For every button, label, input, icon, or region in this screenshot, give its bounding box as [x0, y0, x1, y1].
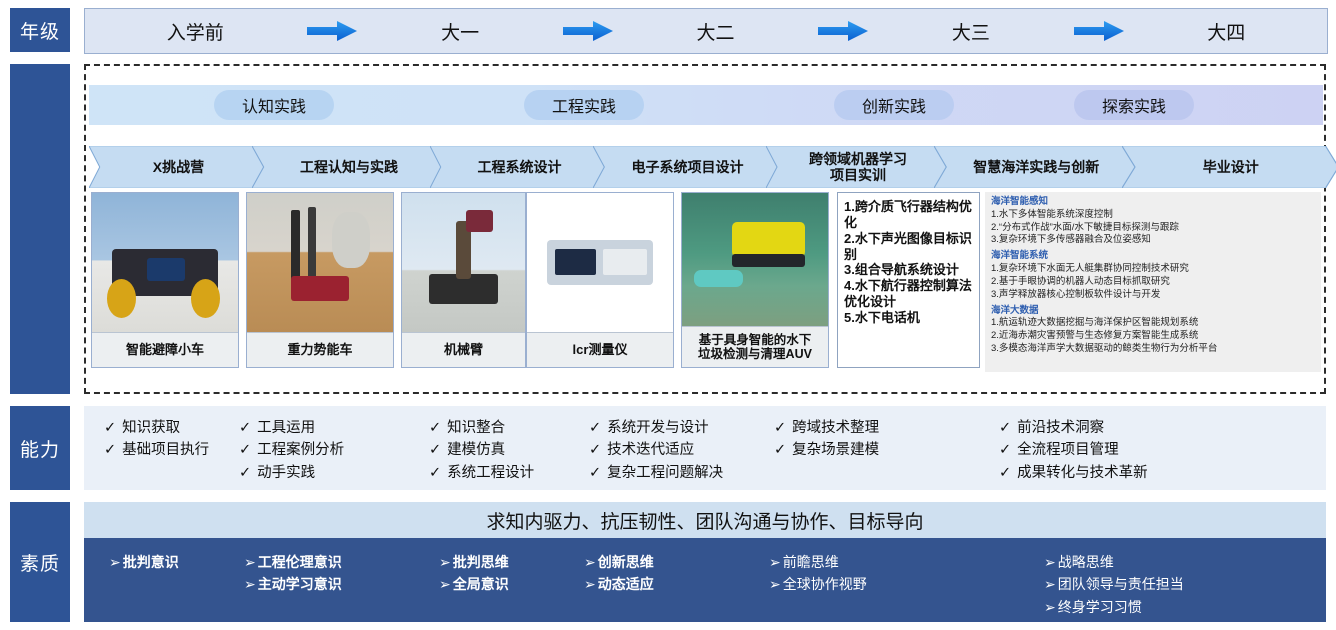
poster-root: 年级 入学前 大一 大二 大三 大四 认知实践 工程实践	[0, 0, 1336, 630]
quality-headline: 求知内驱力、抗压韧性、团队沟通与协作、目标导向	[84, 502, 1326, 538]
check-icon: ✓	[589, 420, 601, 436]
quality-item: ➢战略思维	[1044, 551, 1184, 573]
ability-column-1: ✓工具运用✓工程案例分析✓动手实践	[239, 417, 344, 484]
ability-item: ✓前沿技术洞察	[999, 417, 1148, 439]
check-icon: ✓	[239, 420, 251, 436]
grade-item-0: 入学前	[167, 18, 224, 45]
grade-item-2: 大二	[696, 18, 734, 45]
row-label-grade: 年级	[10, 8, 70, 52]
practice-stage-banner: 认知实践 工程实践 创新实践 探索实践	[89, 85, 1323, 125]
ability-panel: ✓知识获取✓基础项目执行✓工具运用✓工程案例分析✓动手实践✓知识整合✓建模仿真✓…	[84, 406, 1326, 490]
check-icon: ✓	[999, 465, 1011, 481]
arrow-bullet-icon: ➢	[439, 576, 451, 592]
quality-item: ➢全局意识	[439, 573, 509, 595]
quality-item: ➢工程伦理意识	[244, 551, 342, 573]
stage-pill-1: 工程实践	[524, 90, 644, 120]
arrow-bullet-icon: ➢	[584, 554, 596, 570]
course-chevron-label: 毕业设计	[1197, 159, 1265, 175]
research-item: 2.基于手眼协调的机器人动态目标抓取研究	[991, 276, 1316, 289]
quality-item: ➢批判意识	[109, 551, 179, 573]
arrow-bullet-icon: ➢	[1044, 576, 1056, 592]
check-icon: ✓	[429, 442, 441, 458]
right-arrow-icon	[816, 19, 870, 43]
check-icon: ✓	[589, 442, 601, 458]
arrow-bullet-icon: ➢	[1044, 554, 1056, 570]
research-item: 2.近海赤潮灾害预警与生态修复方案智能生成系统	[991, 330, 1316, 343]
grade-item-1: 大一	[441, 18, 479, 45]
ability-item: ✓系统开发与设计	[589, 417, 723, 439]
ability-item: ✓基础项目执行	[104, 439, 209, 461]
course-chevron-3[interactable]: 电子系统项目设计	[593, 146, 782, 188]
project-card-caption: 基于具身智能的水下垃圾检测与清理AUV	[682, 326, 828, 367]
row-label-practice	[10, 64, 70, 394]
quality-column-2: ➢批判思维➢全局意识	[439, 551, 509, 596]
project-card-caption: 重力势能车	[247, 332, 393, 367]
course-chevron-1[interactable]: 工程认知与实践	[252, 146, 446, 188]
course-chevron-2[interactable]: 工程系统设计	[430, 146, 609, 188]
quality-item: ➢全球协作视野	[769, 573, 867, 595]
project-card-row: 智能避障小车重力势能车机械臂lcr测量仪基于具身智能的水下垃圾检测与清理AUV1…	[89, 192, 1323, 372]
ability-column-3: ✓系统开发与设计✓技术迭代适应✓复杂工程问题解决	[589, 417, 723, 484]
ability-item: ✓技术迭代适应	[589, 439, 723, 461]
ability-column-4: ✓跨域技术整理✓复杂场景建模	[774, 417, 879, 462]
course-chevron-label: 电子系统项目设计	[626, 159, 750, 175]
course-chevron-label: 跨领域机器学习项目实训	[803, 151, 913, 183]
check-icon: ✓	[104, 420, 116, 436]
arrow-bullet-icon: ➢	[769, 554, 781, 570]
practice-panel: 认知实践 工程实践 创新实践 探索实践 X挑战营工程认知与实践工程系统设计电子系…	[84, 64, 1326, 394]
quality-column-5: ➢战略思维➢团队领导与责任担当➢终身学习习惯	[1044, 551, 1184, 618]
course-chevron-label: X挑战营	[147, 159, 210, 175]
ability-column-5: ✓前沿技术洞察✓全流程项目管理✓成果转化与技术革新	[999, 417, 1148, 484]
quality-item: ➢动态适应	[584, 573, 654, 595]
project-card[interactable]: lcr测量仪	[526, 192, 674, 368]
ability-item: ✓系统工程设计	[429, 462, 534, 484]
row-label-quality: 素质	[10, 502, 70, 622]
project-card-caption: 机械臂	[402, 332, 525, 367]
arrow-bullet-icon: ➢	[1044, 599, 1056, 615]
course-chevron-0[interactable]: X挑战营	[89, 146, 268, 188]
research-group-heading: 海洋智能系统	[991, 250, 1316, 263]
course-chevron-row: X挑战营工程认知与实践工程系统设计电子系统项目设计跨领域机器学习项目实训智慧海洋…	[89, 146, 1323, 188]
quality-item: ➢前瞻思维	[769, 551, 867, 573]
topic-list-item: 2.水下声光图像目标识别	[844, 231, 974, 263]
arrow-bullet-icon: ➢	[244, 576, 256, 592]
ability-item: ✓建模仿真	[429, 439, 534, 461]
project-card[interactable]: 基于具身智能的水下垃圾检测与清理AUV	[681, 192, 829, 368]
ability-item: ✓复杂场景建模	[774, 439, 879, 461]
check-icon: ✓	[239, 442, 251, 458]
ability-item: ✓知识整合	[429, 417, 534, 439]
project-card[interactable]: 智能避障小车	[91, 192, 239, 368]
project-card[interactable]: 机械臂	[401, 192, 526, 368]
research-topics-card: 海洋智能感知1.水下多体智能系统深度控制2.“分布式作战”水面/水下敏捷目标探测…	[985, 192, 1321, 372]
topic-list-item: 3.组合导航系统设计	[844, 262, 974, 278]
check-icon: ✓	[429, 465, 441, 481]
stage-pill-2: 创新实践	[834, 90, 954, 120]
research-group-heading: 海洋智能感知	[991, 196, 1316, 209]
project-card-caption: lcr测量仪	[527, 332, 673, 367]
topic-list-item: 5.水下电话机	[844, 310, 974, 326]
ability-item: ✓工程案例分析	[239, 439, 344, 461]
right-arrow-icon	[305, 19, 359, 43]
stage-pill-3: 探索实践	[1074, 90, 1194, 120]
grade-item-4: 大四	[1207, 18, 1245, 45]
quality-item: ➢主动学习意识	[244, 573, 342, 595]
check-icon: ✓	[999, 420, 1011, 436]
course-chevron-6[interactable]: 毕业设计	[1122, 146, 1336, 188]
course-chevron-label: 工程系统设计	[472, 159, 568, 175]
arrow-bullet-icon: ➢	[439, 554, 451, 570]
quality-column-4: ➢前瞻思维➢全球协作视野	[769, 551, 867, 596]
grade-item-3: 大三	[952, 18, 990, 45]
quality-panel: ➢批判意识➢工程伦理意识➢主动学习意识➢批判思维➢全局意识➢创新思维➢动态适应➢…	[84, 538, 1326, 622]
research-item: 1.航运轨迹大数据挖掘与海洋保护区智能规划系统	[991, 317, 1316, 330]
check-icon: ✓	[104, 442, 116, 458]
quality-item: ➢团队领导与责任担当	[1044, 573, 1184, 595]
course-chevron-4[interactable]: 跨领域机器学习项目实训	[766, 146, 950, 188]
quality-item: ➢终身学习习惯	[1044, 596, 1184, 618]
ability-column-0: ✓知识获取✓基础项目执行	[104, 417, 209, 462]
quality-item: ➢批判思维	[439, 551, 509, 573]
check-icon: ✓	[774, 442, 786, 458]
arrow-bullet-icon: ➢	[584, 576, 596, 592]
check-icon: ✓	[999, 442, 1011, 458]
research-item: 3.多模态海洋声学大数据驱动的鲸类生物行为分析平台	[991, 343, 1316, 356]
ability-item: ✓动手实践	[239, 462, 344, 484]
ability-item: ✓复杂工程问题解决	[589, 462, 723, 484]
topic-list-item: 1.跨介质飞行器结构优化	[844, 199, 974, 231]
research-item: 3.复杂环境下多传感器融合及位姿感知	[991, 234, 1316, 247]
course-chevron-5[interactable]: 智慧海洋实践与创新	[934, 146, 1138, 188]
smart-obstacle-avoidance-car-photo	[92, 193, 238, 332]
arrow-bullet-icon: ➢	[109, 554, 121, 570]
research-item: 2.“分布式作战”水面/水下敏捷目标探测与跟踪	[991, 222, 1316, 235]
ability-item: ✓跨域技术整理	[774, 417, 879, 439]
topic-list-card: 1.跨介质飞行器结构优化2.水下声光图像目标识别3.组合导航系统设计4.水下航行…	[837, 192, 980, 368]
stage-pill-0: 认知实践	[214, 90, 334, 120]
quality-column-0: ➢批判意识	[109, 551, 179, 573]
underwater-auv-photo	[682, 193, 828, 326]
gravity-potential-energy-car-photo	[247, 193, 393, 332]
research-item: 1.复杂环境下水面无人艇集群协同控制技术研究	[991, 263, 1316, 276]
research-item: 1.水下多体智能系统深度控制	[991, 209, 1316, 222]
check-icon: ✓	[589, 465, 601, 481]
ability-item: ✓知识获取	[104, 417, 209, 439]
project-card[interactable]: 重力势能车	[246, 192, 394, 368]
ability-column-2: ✓知识整合✓建模仿真✓系统工程设计	[429, 417, 534, 484]
row-label-ability: 能力	[10, 406, 70, 490]
right-arrow-icon	[561, 19, 615, 43]
arrow-bullet-icon: ➢	[769, 576, 781, 592]
robotic-arm-photo	[402, 193, 525, 332]
topic-list-item: 4.水下航行器控制算法优化设计	[844, 278, 974, 310]
quality-column-3: ➢创新思维➢动态适应	[584, 551, 654, 596]
quality-column-1: ➢工程伦理意识➢主动学习意识	[244, 551, 342, 596]
check-icon: ✓	[429, 420, 441, 436]
arrow-bullet-icon: ➢	[244, 554, 256, 570]
grade-timeline-bar: 入学前 大一 大二 大三 大四	[84, 8, 1328, 54]
course-chevron-label: 工程认知与实践	[294, 159, 404, 175]
check-icon: ✓	[239, 465, 251, 481]
lcr-meter-photo	[527, 193, 673, 332]
ability-item: ✓成果转化与技术革新	[999, 462, 1148, 484]
project-card-caption: 智能避障小车	[92, 332, 238, 367]
course-chevron-label: 智慧海洋实践与创新	[967, 159, 1105, 175]
ability-item: ✓全流程项目管理	[999, 439, 1148, 461]
right-arrow-icon	[1072, 19, 1126, 43]
ability-item: ✓工具运用	[239, 417, 344, 439]
research-item: 3.声学释放器核心控制板软件设计与开发	[991, 289, 1316, 302]
research-group-heading: 海洋大数据	[991, 305, 1316, 318]
check-icon: ✓	[774, 420, 786, 436]
quality-item: ➢创新思维	[584, 551, 654, 573]
